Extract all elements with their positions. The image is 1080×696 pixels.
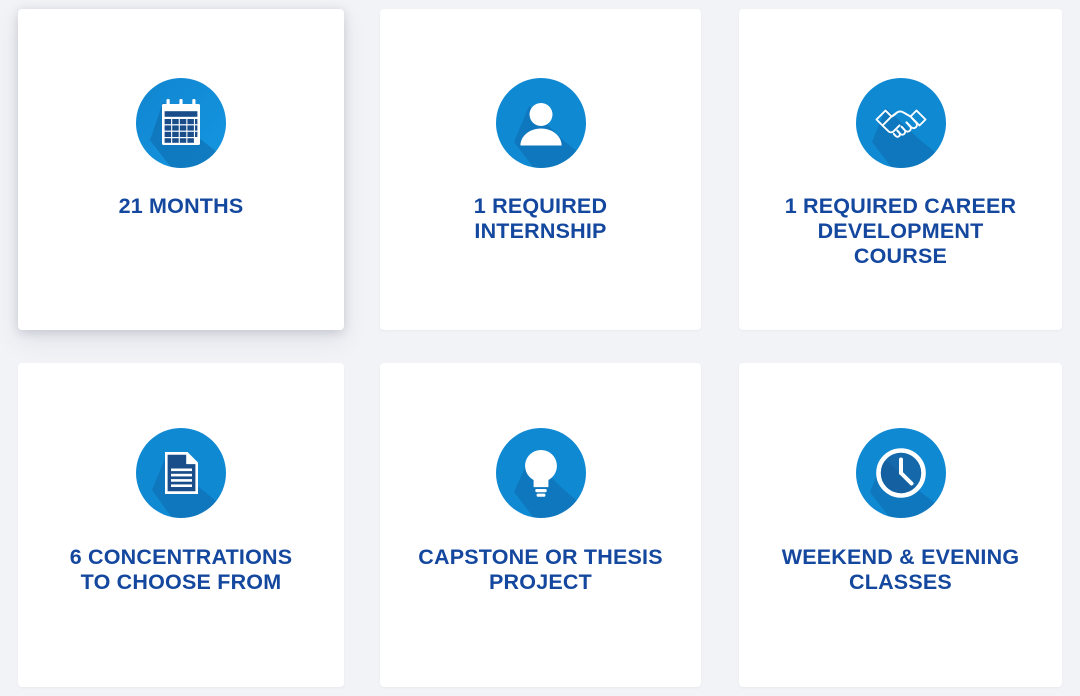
feature-card-label: 1 REQUIRED CAREER DEVELOPMENT COURSE [758,194,1042,269]
feature-card-label: 6 CONCENTRATIONS TO CHOOSE FROM [38,545,325,595]
document-icon [136,428,226,518]
feature-card-21-months[interactable]: 21 MONTHS [18,9,344,330]
lightbulb-icon [496,428,586,518]
feature-card-concentrations[interactable]: 6 CONCENTRATIONS TO CHOOSE FROM [18,363,344,687]
calendar-icon [136,78,226,168]
feature-card-label: CAPSTONE OR THESIS PROJECT [399,545,681,595]
feature-card-weekend-evening-classes[interactable]: WEEKEND & EVENING CLASSES [739,363,1062,687]
feature-card-career-development-course[interactable]: 1 REQUIRED CAREER DEVELOPMENT COURSE [739,9,1062,330]
clock-icon [856,428,946,518]
feature-card-required-internship[interactable]: 1 REQUIRED INTERNSHIP [380,9,701,330]
feature-card-label: 21 MONTHS [38,194,325,219]
handshake-icon [856,78,946,168]
feature-card-grid: 21 MONTHS 1 REQUIRED INTERNSHIP [0,0,1080,696]
feature-card-label: 1 REQUIRED INTERNSHIP [399,194,681,244]
feature-card-label: WEEKEND & EVENING CLASSES [758,545,1042,595]
person-icon [496,78,586,168]
feature-card-capstone-project[interactable]: CAPSTONE OR THESIS PROJECT [380,363,701,687]
